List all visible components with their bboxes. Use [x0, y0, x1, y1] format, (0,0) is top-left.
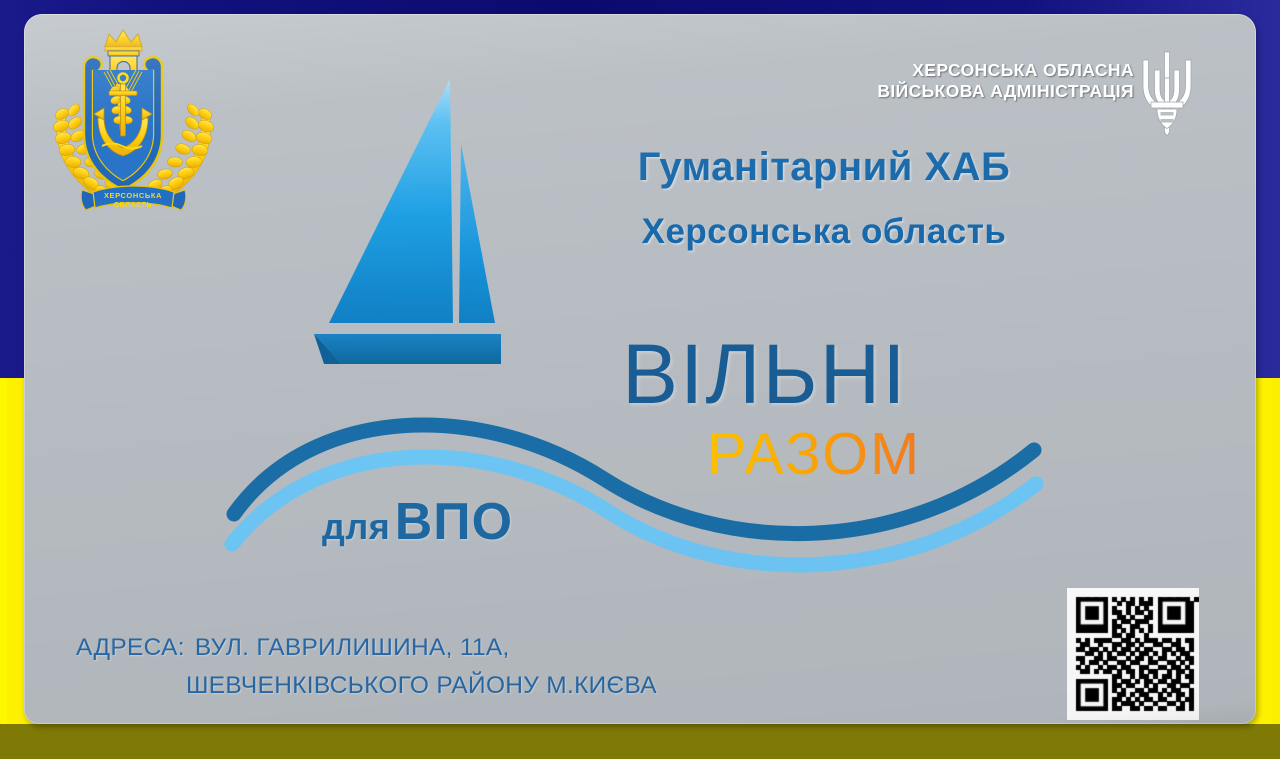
- address-label: АДРЕСА:: [76, 634, 185, 661]
- administration-header: ХЕРСОНСЬКА ОБЛАСНА ВІЙСЬКОВА АДМІНІСТРАЦ…: [877, 60, 1134, 102]
- qr-code-icon[interactable]: [1067, 588, 1199, 720]
- admin-line-2: ВІЙСЬКОВА АДМІНІСТРАЦІЯ: [877, 81, 1134, 102]
- coat-of-arms-ribbon-text: ХЕРСОНСЬКА: [104, 191, 162, 200]
- svg-text:ОБЛАСТЬ: ОБЛАСТЬ: [114, 202, 152, 209]
- logo-wordmark-secondary: РАЗОМ: [707, 420, 921, 488]
- page-title: Гуманітарний ХАБ: [594, 145, 1054, 190]
- page-subtitle: Херсонська область: [594, 212, 1054, 252]
- sailboat-icon: [254, 76, 584, 421]
- frame-right-highlight: [1272, 378, 1280, 724]
- admin-line-1: ХЕРСОНСЬКА ОБЛАСНА: [877, 60, 1134, 81]
- qr-code-canvas: [1067, 588, 1199, 720]
- banner-root: ХЕРСОНСЬКА ОБЛАСТЬ ХЕРСОНСЬКА ОБЛАСНА ВІ…: [0, 0, 1280, 759]
- address-block: АДРЕСА:ВУЛ. ГАВРИЛИШИНА, 11А, ШЕВЧЕНКІВС…: [76, 629, 657, 705]
- tagline-prefix: для: [322, 506, 390, 547]
- address-line-1: ВУЛ. ГАВРИЛИШИНА, 11А,: [195, 634, 510, 661]
- ukraine-trident-icon: [1136, 46, 1198, 138]
- logo-wordmark-primary: ВІЛЬНІ: [622, 326, 908, 423]
- tagline: для ВПО: [322, 492, 513, 552]
- address-line-2: ШЕВЧЕНКІВСЬКОГО РАЙОНУ М.КИЄВА: [76, 667, 657, 705]
- tagline-emphasis: ВПО: [395, 493, 513, 551]
- banner-card: ХЕРСОНСЬКА ОБЛАСТЬ ХЕРСОНСЬКА ОБЛАСНА ВІ…: [24, 14, 1256, 724]
- frame-bottom-shadow: [0, 724, 1280, 759]
- kherson-oblast-coat-of-arms-icon: ХЕРСОНСЬКА ОБЛАСТЬ: [46, 22, 221, 212]
- frame-left-highlight: [0, 378, 7, 759]
